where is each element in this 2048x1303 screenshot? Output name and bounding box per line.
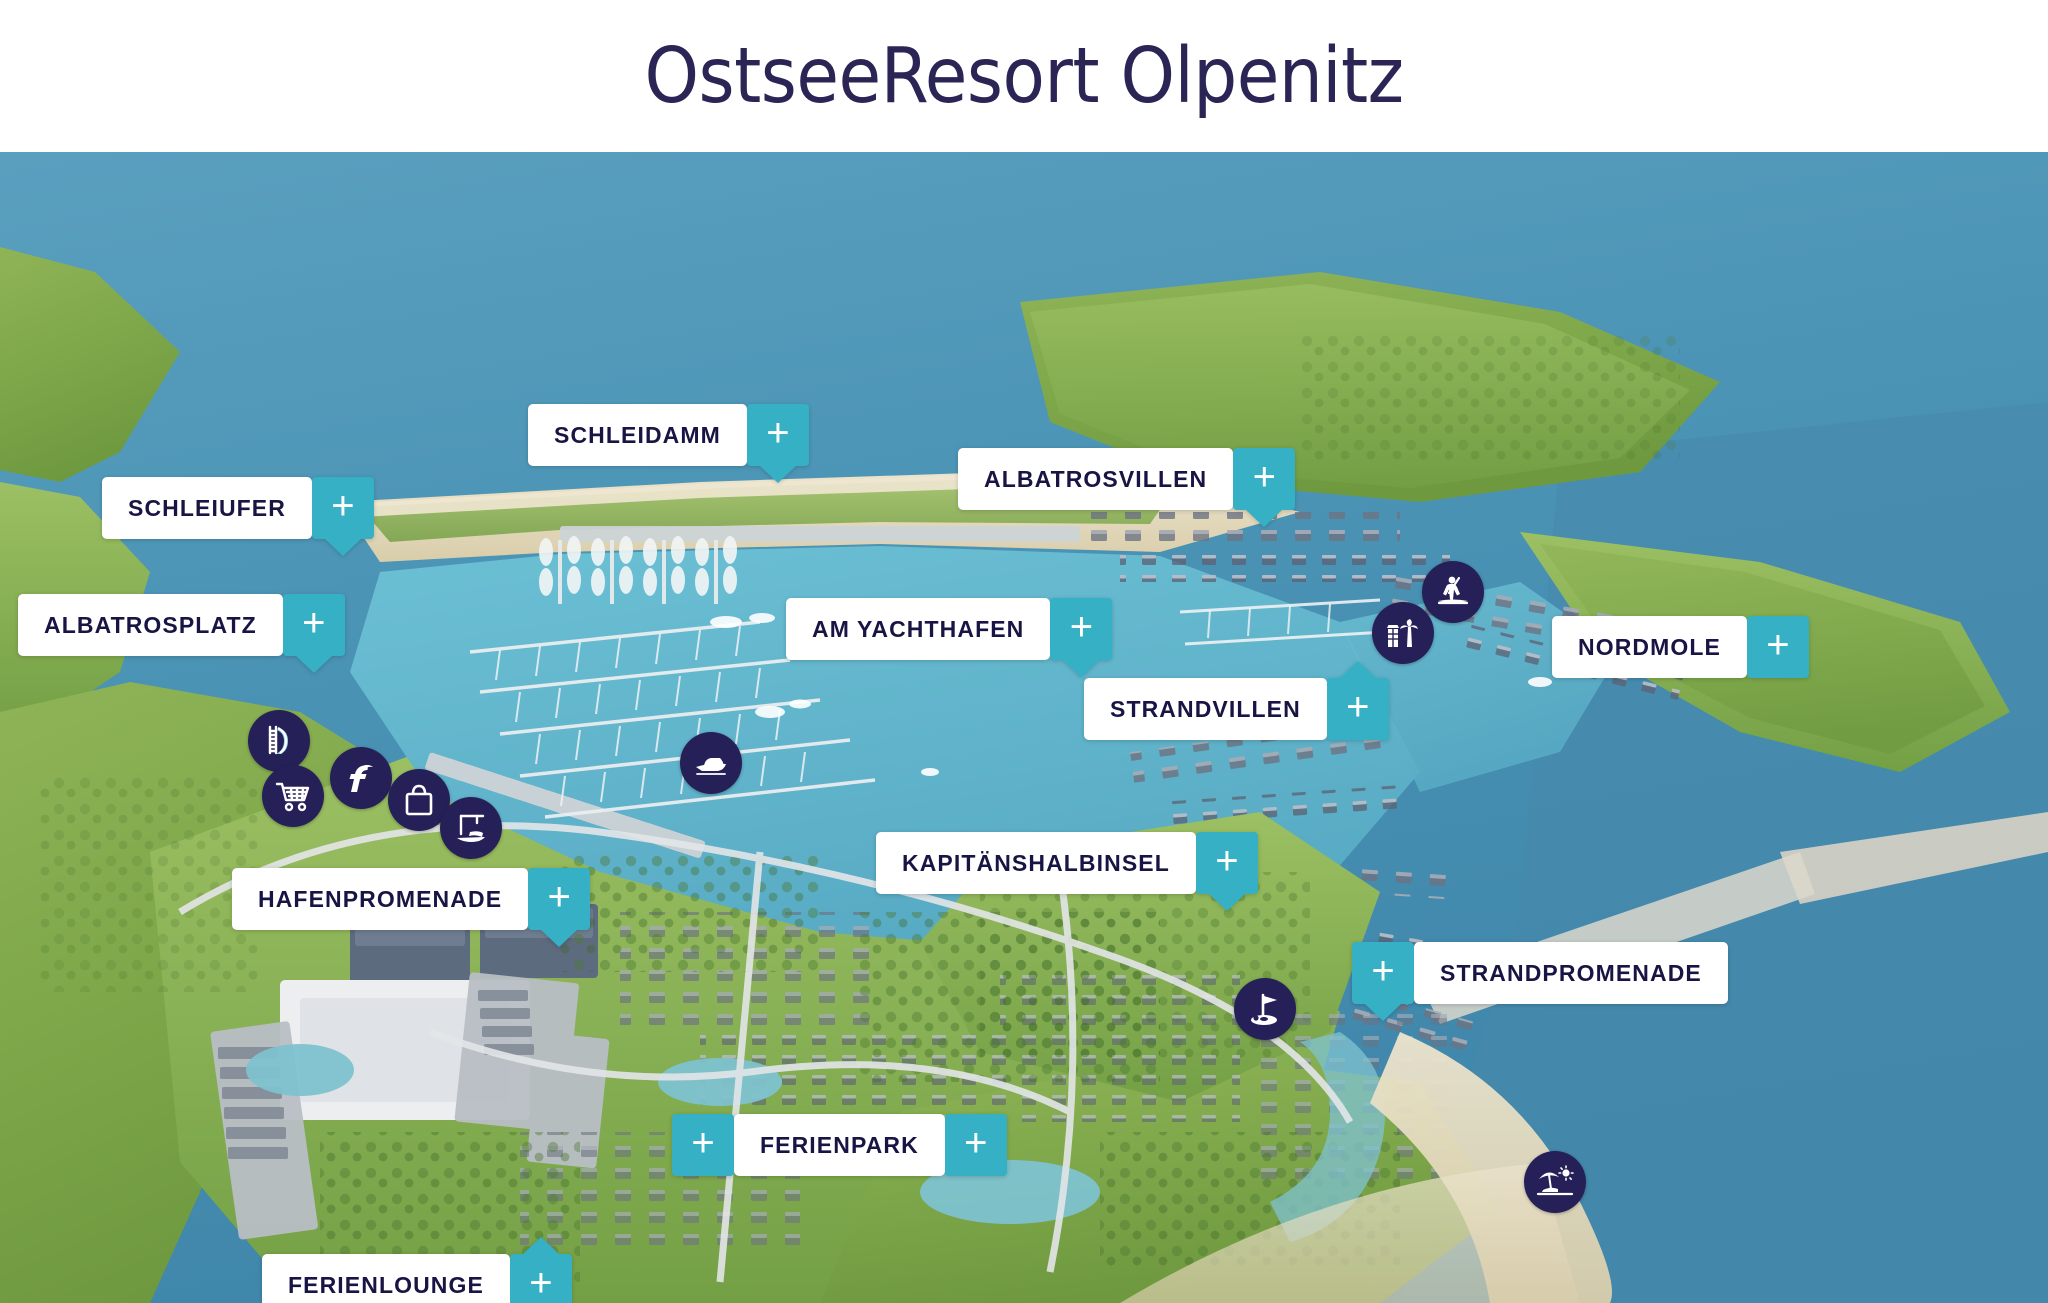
plus-icon-right[interactable]: + [945,1114,1007,1176]
hotspot-ferienlounge[interactable]: FERIENLOUNGE + [262,1254,572,1303]
wellness-f-logo-icon [341,758,381,798]
page-title: OstseeResort Olpenitz [644,32,1403,121]
hotspot-ferienpark[interactable]: + FERIENPARK + [672,1114,1007,1176]
plus-icon[interactable]: + [1050,598,1112,660]
hotspot-nordmole[interactable]: NORDMOLE + [1552,616,1809,678]
hotspot-strandpromenade[interactable]: + STRANDPROMENADE [1352,942,1728,1004]
poi-wellness[interactable] [330,747,392,809]
hotspot-albatrosplatz[interactable]: ALBATROSPLATZ + [18,594,345,656]
plus-icon-left[interactable]: + [672,1114,734,1176]
poi-shopping-centre[interactable] [262,765,324,827]
poi-beach[interactable] [1524,1151,1586,1213]
page-header: OstseeResort Olpenitz [0,0,2048,152]
poi-golf[interactable] [1234,978,1296,1040]
hotspot-label: KAPITÄNSHALBINSEL [876,832,1196,894]
page-root: OstseeResort Olpenitz [0,0,2048,1303]
hotspot-label: AM YACHTHAFEN [786,598,1050,660]
poi-marina[interactable] [680,732,742,794]
plus-icon[interactable]: + [1196,832,1258,894]
hotspot-label: ALBATROSPLATZ [18,594,283,656]
poi-boat-lift[interactable] [440,797,502,859]
hotspot-label: STRANDVILLEN [1084,678,1327,740]
poi-lighthouse-resort[interactable] [1372,602,1434,664]
plus-icon[interactable]: + [1233,448,1295,510]
shopping-bag-icon [399,780,439,820]
hotspot-label: NORDMOLE [1552,616,1747,678]
hotspot-label: SCHLEIUFER [102,477,312,539]
golf-flag-icon [1245,989,1285,1029]
shopping-cart-icon [273,776,313,816]
beach-umbrella-icon [1535,1162,1575,1202]
plus-icon[interactable]: + [1327,678,1389,740]
motorboat-icon [691,743,731,783]
hotspot-label: FERIENLOUNGE [262,1254,510,1303]
water-slide-icon [259,721,299,761]
hotspot-label: STRANDPROMENADE [1414,942,1728,1004]
hotspot-albatrosvillen[interactable]: ALBATROSVILLEN + [958,448,1295,510]
plus-icon[interactable]: + [510,1254,572,1303]
hotspot-label: ALBATROSVILLEN [958,448,1233,510]
plus-icon[interactable]: + [528,868,590,930]
hotspot-label: HAFENPROMENADE [232,868,528,930]
hotspot-am-yachthafen[interactable]: AM YACHTHAFEN + [786,598,1112,660]
hotspot-hafenpromenade[interactable]: HAFENPROMENADE + [232,868,590,930]
hotspot-schleiufer[interactable]: SCHLEIUFER + [102,477,374,539]
hotspot-label: SCHLEIDAMM [528,404,747,466]
poi-water-slide[interactable] [248,710,310,772]
plus-icon[interactable]: + [747,404,809,466]
hotspot-kapitaenshalbinsel[interactable]: KAPITÄNSHALBINSEL + [876,832,1258,894]
plus-icon[interactable]: + [1352,942,1414,1004]
lighthouse-icon [1383,613,1423,653]
resort-map[interactable]: SCHLEIDAMM + SCHLEIUFER + ALBATROSVILLEN… [0,152,2048,1303]
hotspot-label: FERIENPARK [734,1114,945,1176]
plus-icon[interactable]: + [312,477,374,539]
hotspot-strandvillen[interactable]: STRANDVILLEN + [1084,678,1389,740]
plus-icon[interactable]: + [283,594,345,656]
poi-paddleboard[interactable] [1422,561,1484,623]
hotspot-schleidamm[interactable]: SCHLEIDAMM + [528,404,809,466]
paddleboard-icon [1433,572,1473,612]
plus-icon[interactable]: + [1747,616,1809,678]
harbor-crane-icon [451,808,491,848]
